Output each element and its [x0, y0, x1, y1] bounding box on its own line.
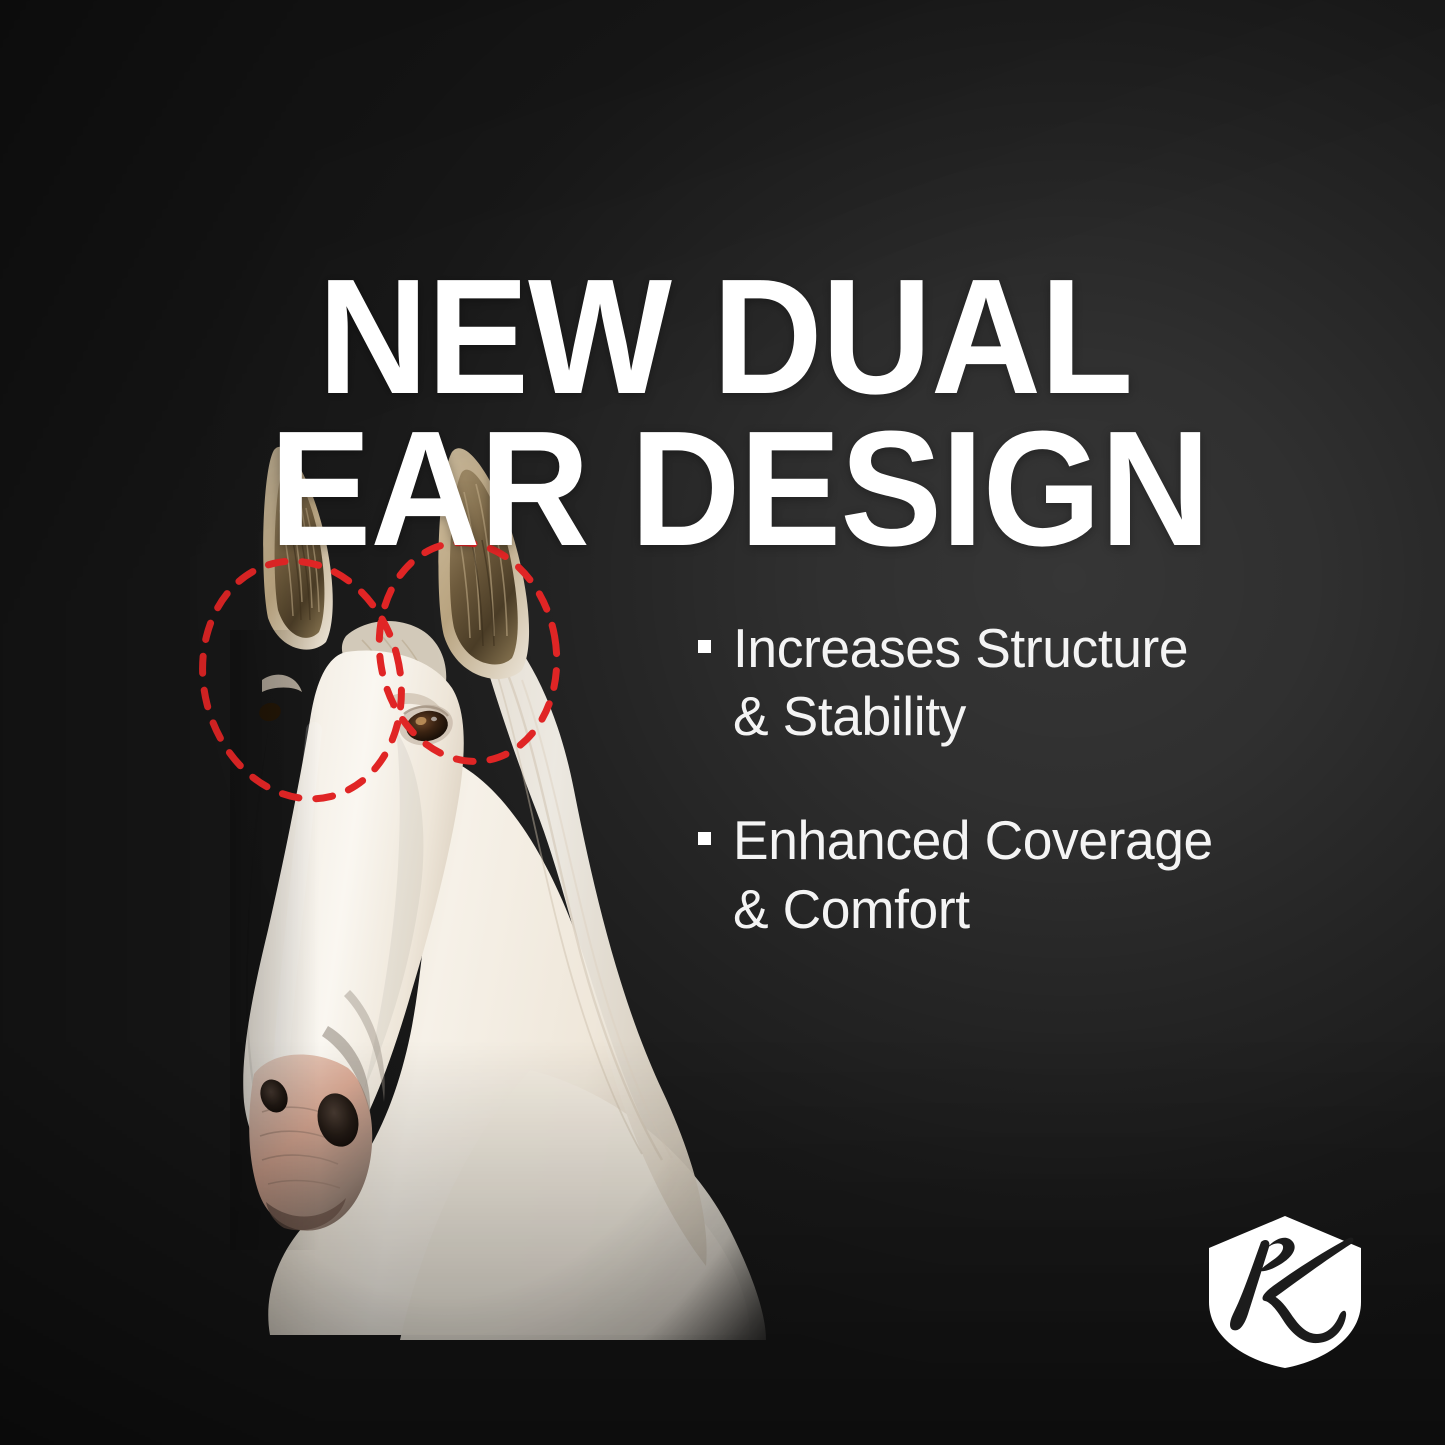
brand-logo — [1203, 1214, 1367, 1370]
feature-list: Increases Structure & Stability Enhanced… — [698, 614, 1358, 999]
square-bullet-icon — [698, 832, 711, 845]
page-title-line-2: EAR DESIGN — [270, 413, 1248, 566]
feature-text: Enhanced Coverage & Comfort — [733, 806, 1213, 942]
feature-text: Increases Structure & Stability — [733, 614, 1188, 750]
promo-image-canvas: NEW DUAL EAR DESIGN Increases Structure … — [0, 0, 1445, 1445]
square-bullet-icon — [698, 640, 711, 653]
list-item: Enhanced Coverage & Comfort — [698, 806, 1358, 942]
list-item: Increases Structure & Stability — [698, 614, 1358, 750]
